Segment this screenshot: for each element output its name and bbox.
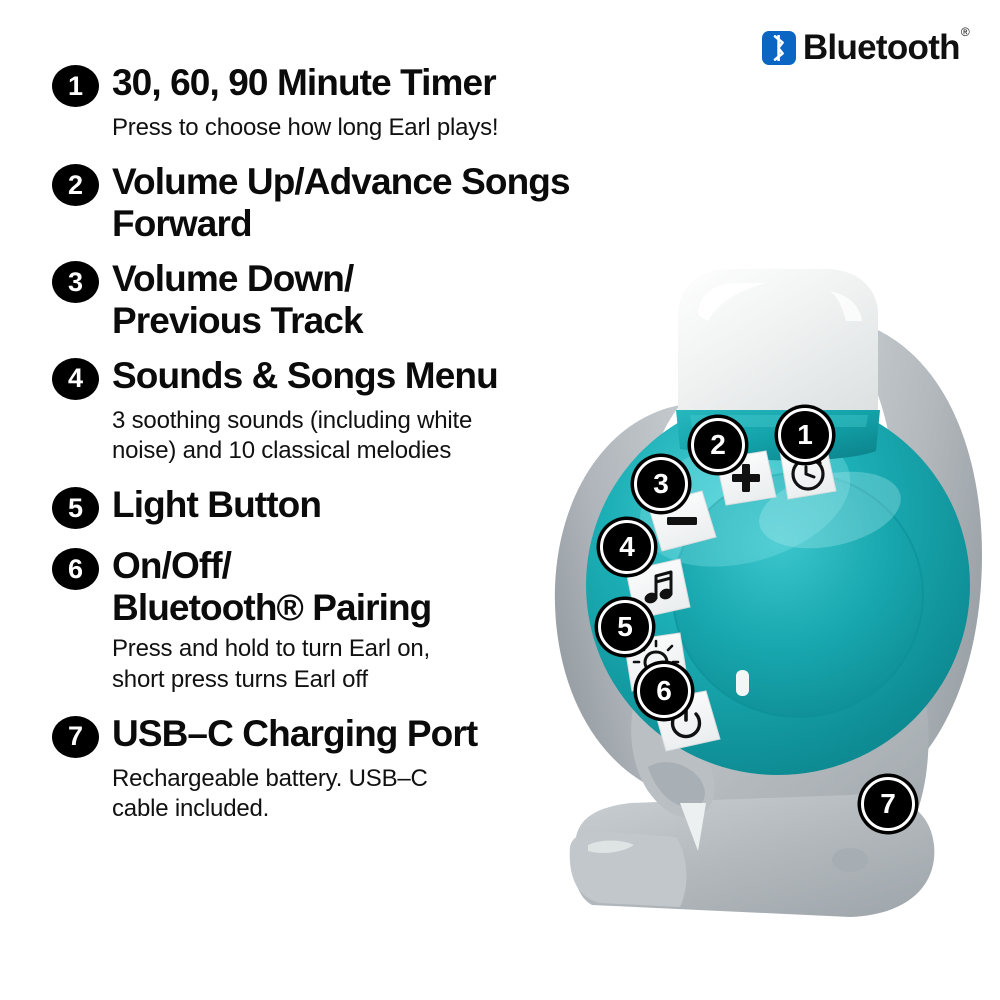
feature-title-4: Sounds & Songs Menu: [112, 355, 498, 396]
feature-subtitle-1: Press to choose how long Earl plays!: [112, 113, 652, 143]
bluetooth-wordmark-text: Bluetooth: [803, 28, 960, 67]
feature-item-2: 2 Volume Up/Advance Songs Forward: [52, 161, 652, 244]
callout-badge-2[interactable]: 2: [691, 418, 745, 472]
feature-title-2: Volume Up/Advance Songs Forward: [112, 161, 652, 244]
callout-badge-6[interactable]: 6: [637, 664, 691, 718]
feature-item-1: 1 30, 60, 90 Minute Timer Press to choos…: [52, 62, 652, 143]
callout-badge-7[interactable]: 7: [861, 777, 915, 831]
feature-title-1: 30, 60, 90 Minute Timer: [112, 62, 496, 103]
bluetooth-logo: Bluetooth®: [762, 30, 968, 65]
feature-title-7: USB–C Charging Port: [112, 713, 477, 754]
feature-badge-7: 7: [52, 716, 99, 758]
callout-badge-4[interactable]: 4: [600, 520, 654, 574]
callout-badge-1[interactable]: 1: [778, 408, 832, 462]
feature-badge-1: 1: [52, 65, 99, 107]
feature-title-6: On/Off/ Bluetooth® Pairing: [112, 545, 431, 628]
usb-c-charging-port: [832, 848, 868, 872]
registered-mark: ®: [961, 25, 969, 39]
led-indicator: [736, 670, 749, 696]
bluetooth-wordmark: Bluetooth®: [803, 30, 968, 65]
light-dome: [678, 269, 878, 410]
feature-badge-3: 3: [52, 261, 99, 303]
feature-title-5: Light Button: [112, 484, 321, 525]
feature-title-3: Volume Down/ Previous Track: [112, 258, 363, 341]
feature-head: 2 Volume Up/Advance Songs Forward: [52, 161, 652, 244]
feature-badge-6: 6: [52, 548, 99, 590]
callout-badge-5[interactable]: 5: [598, 600, 652, 654]
infographic-page: Bluetooth® 1 30, 60, 90 Minute Timer Pre…: [0, 0, 1000, 1000]
product-illustration: [530, 255, 1000, 955]
feature-badge-2: 2: [52, 164, 99, 206]
feature-badge-4: 4: [52, 358, 99, 400]
callout-badge-3[interactable]: 3: [634, 457, 688, 511]
feature-badge-5: 5: [52, 487, 99, 529]
bluetooth-icon: [762, 31, 796, 65]
feature-head: 1 30, 60, 90 Minute Timer: [52, 62, 652, 107]
